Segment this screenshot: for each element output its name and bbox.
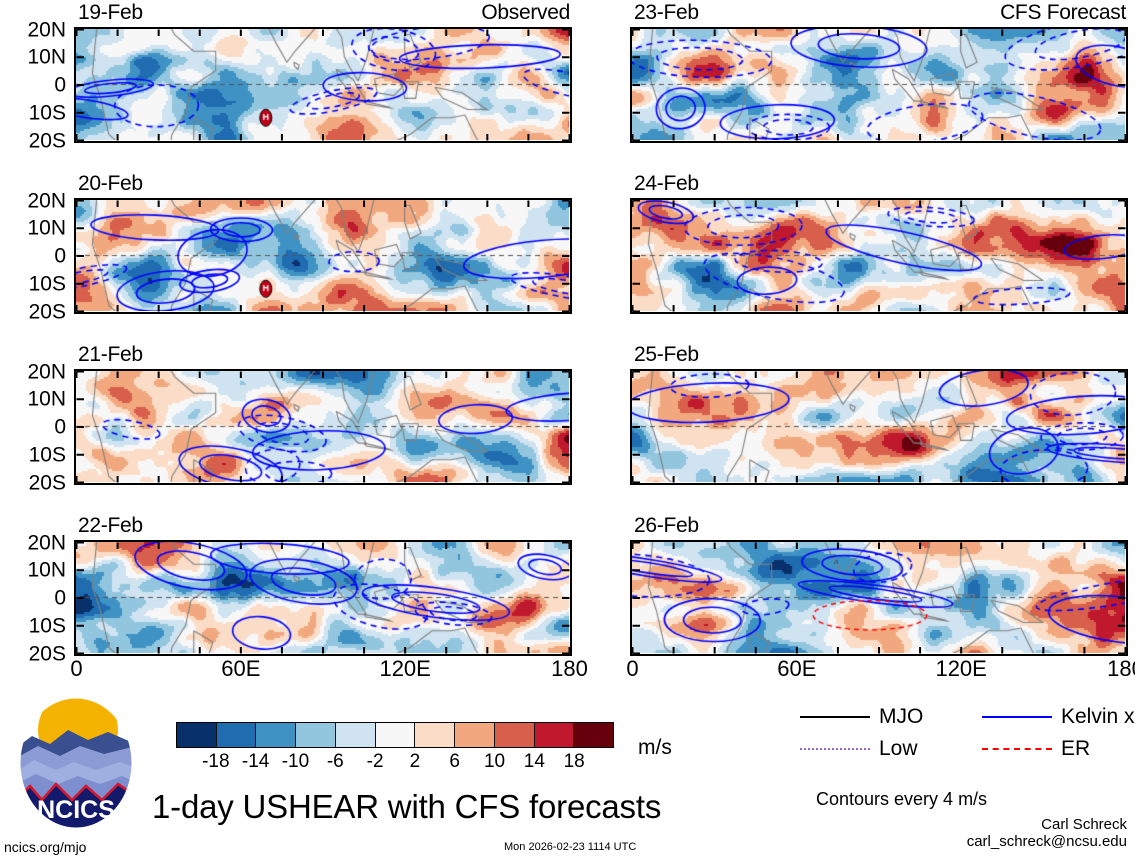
y-tick-label: 10S xyxy=(29,102,66,123)
legend-line-swatch xyxy=(800,748,870,750)
x-tick-label: 60E xyxy=(221,658,260,680)
colorbar-segment xyxy=(256,723,296,747)
y-tick-label: 20N xyxy=(27,532,66,553)
panel-date-label: 25-Feb xyxy=(634,344,699,365)
panel-corner-label: CFS Forecast xyxy=(1000,2,1126,23)
legend-label: Low xyxy=(879,738,918,759)
page-title: 1-day USHEAR with CFS forecasts xyxy=(152,790,661,823)
panel-date-label: 26-Feb xyxy=(634,515,699,536)
colorbar-segment xyxy=(217,723,257,747)
legend-item-kelvin-x2: Kelvin x2 xyxy=(982,706,1135,727)
panel-frame xyxy=(74,27,572,143)
y-tick-label: 20S xyxy=(29,130,66,151)
panel-date-label: 22-Feb xyxy=(78,515,143,536)
map-panel-20-feb: 20-Feb xyxy=(74,198,572,314)
mjo-ushear-figure: 19-FebObserved20N10N010S20S20-Feb20N10N0… xyxy=(0,0,1135,860)
heatmap-canvas xyxy=(632,542,1125,653)
colorbar-tick: 10 xyxy=(484,752,505,771)
y-tick-label: 20S xyxy=(29,472,66,493)
contour-interval-note: Contours every 4 m/s xyxy=(816,790,987,808)
y-axis-labels: 20N10N010S20S xyxy=(0,198,66,314)
panel-date-label: 20-Feb xyxy=(78,173,143,194)
map-panel-21-feb: 21-Feb xyxy=(74,369,572,485)
panel-frame xyxy=(74,198,572,314)
legend-line-swatch xyxy=(982,748,1052,750)
y-tick-label: 10N xyxy=(27,47,66,68)
y-axis-labels: 20N10N010S20S xyxy=(0,540,66,656)
y-tick-label: 10N xyxy=(27,389,66,410)
ncics-logo[interactable]: NCICS xyxy=(16,696,136,830)
y-tick-label: 20N xyxy=(27,361,66,382)
y-tick-label: 0 xyxy=(54,246,66,267)
footer-site-link[interactable]: ncics.org/mjo xyxy=(4,840,86,854)
colorbar-segment xyxy=(495,723,535,747)
colorbar-segment xyxy=(535,723,575,747)
credit-name: Carl Schreck xyxy=(967,816,1127,833)
colorbar-segment xyxy=(376,723,416,747)
legend-label: Kelvin x2 xyxy=(1061,706,1135,727)
map-panel-25-feb: 25-Feb xyxy=(630,369,1128,485)
panel-frame xyxy=(630,198,1128,314)
legend-item-er: ER xyxy=(982,738,1090,759)
map-panel-23-feb: 23-FebCFS Forecast xyxy=(630,27,1128,143)
colorbar-tick: 18 xyxy=(564,752,585,771)
colorbar-units: m/s xyxy=(638,737,672,758)
map-panel-24-feb: 24-Feb xyxy=(630,198,1128,314)
y-tick-label: 10S xyxy=(29,444,66,465)
legend-item-mjo: MJO xyxy=(800,706,923,727)
colorbar-tick: -18 xyxy=(202,752,229,771)
heatmap-canvas xyxy=(76,200,569,311)
y-tick-label: 0 xyxy=(54,588,66,609)
panel-date-label: 19-Feb xyxy=(78,2,143,23)
colorbar-tick: 14 xyxy=(524,752,545,771)
x-tick-label: 180 xyxy=(1107,658,1135,680)
x-axis-right: 060E120E180 xyxy=(630,658,1128,684)
map-panel-26-feb: 26-Feb xyxy=(630,540,1128,656)
y-axis-labels: 20N10N010S20S xyxy=(0,27,66,143)
credit-email: carl_schreck@ncsu.edu xyxy=(967,833,1127,850)
y-tick-label: 20S xyxy=(29,301,66,322)
panel-frame xyxy=(74,540,572,656)
heatmap-canvas xyxy=(632,371,1125,482)
colorbar-tick: -14 xyxy=(242,752,269,771)
legend-label: ER xyxy=(1061,738,1090,759)
x-tick-label: 120E xyxy=(935,658,986,680)
heatmap-canvas xyxy=(76,29,569,140)
colorbar-segment xyxy=(415,723,455,747)
panel-corner-label: Observed xyxy=(481,2,570,23)
colorbar-segment xyxy=(455,723,495,747)
x-tick-label: 0 xyxy=(70,658,82,680)
heatmap-canvas xyxy=(76,542,569,653)
footer-timestamp: Mon 2026-02-23 1114 UTC xyxy=(504,842,636,853)
legend-label: MJO xyxy=(879,706,923,727)
colorbar-tick: 2 xyxy=(410,752,421,771)
colorbar-tick: -2 xyxy=(367,752,384,771)
legend-item-low: Low xyxy=(800,738,918,759)
panel-frame xyxy=(630,540,1128,656)
y-tick-label: 10S xyxy=(29,615,66,636)
panel-frame xyxy=(630,27,1128,143)
panel-date-label: 21-Feb xyxy=(78,344,143,365)
panel-date-label: 24-Feb xyxy=(634,173,699,194)
colorbar-segment xyxy=(574,723,613,747)
y-tick-label: 0 xyxy=(54,417,66,438)
colorbar-segment xyxy=(177,723,217,747)
colorbar xyxy=(176,722,614,748)
colorbar-tick: -6 xyxy=(327,752,344,771)
x-axis-left: 060E120E180 xyxy=(74,658,572,684)
credit-block: Carl Schreck carl_schreck@ncsu.edu xyxy=(967,816,1127,850)
map-panel-19-feb: 19-FebObserved xyxy=(74,27,572,143)
y-tick-label: 10N xyxy=(27,560,66,581)
colorbar-segment xyxy=(336,723,376,747)
y-tick-label: 0 xyxy=(54,75,66,96)
colorbar-segment xyxy=(296,723,336,747)
y-tick-label: 10S xyxy=(29,273,66,294)
panel-frame xyxy=(74,369,572,485)
colorbar-tick: -10 xyxy=(282,752,309,771)
logo-text: NCICS xyxy=(37,796,115,824)
y-axis-labels: 20N10N010S20S xyxy=(0,369,66,485)
colorbar-tick: 6 xyxy=(449,752,460,771)
map-panel-22-feb: 22-Feb xyxy=(74,540,572,656)
heatmap-canvas xyxy=(632,29,1125,140)
y-tick-label: 20N xyxy=(27,190,66,211)
legend-line-swatch xyxy=(800,716,870,718)
legend-line-swatch xyxy=(982,716,1052,718)
colorbar-tick-labels: -18-14-10-6-226101418 xyxy=(176,752,614,774)
x-tick-label: 0 xyxy=(626,658,638,680)
y-tick-label: 10N xyxy=(27,218,66,239)
panel-frame xyxy=(630,369,1128,485)
y-tick-label: 20S xyxy=(29,643,66,664)
heatmap-canvas xyxy=(632,200,1125,311)
x-tick-label: 60E xyxy=(777,658,816,680)
y-tick-label: 20N xyxy=(27,19,66,40)
x-tick-label: 180 xyxy=(551,658,588,680)
heatmap-canvas xyxy=(76,371,569,482)
x-tick-label: 120E xyxy=(379,658,430,680)
panel-date-label: 23-Feb xyxy=(634,2,699,23)
contour-legend: MJOKelvin x2LowER xyxy=(800,706,1130,768)
